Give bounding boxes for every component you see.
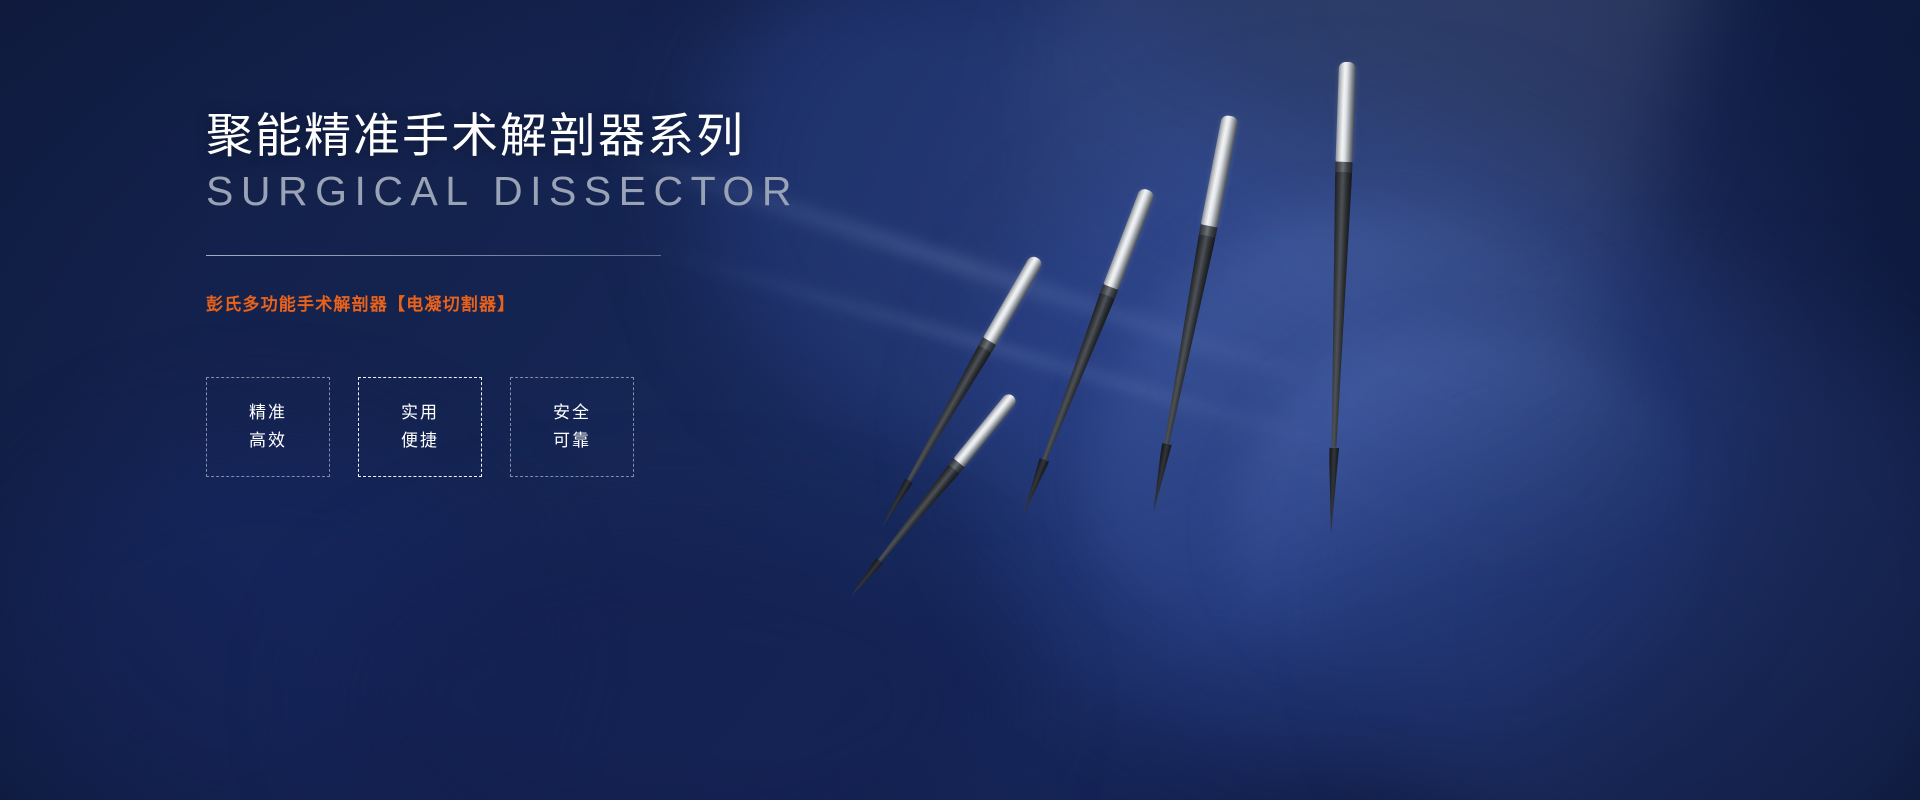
instrument-neck [979,337,996,352]
feature-box-1-line1: 精准 [249,399,287,427]
instrument-handle [1201,114,1239,227]
feature-box-1-line2: 高效 [249,427,287,455]
background-blob [330,520,1010,800]
background-hand-silhouette [1090,210,1650,680]
instrument-tip [1149,443,1172,512]
page-subtitle-english: SURGICAL DISSECTOR [206,169,906,214]
instrument-tip [1019,458,1049,516]
instrument-handle [983,254,1044,345]
instrument-handle [953,392,1018,468]
instrument-neck [1100,284,1118,298]
instrument-4 [1194,114,1239,264]
instrument-shaft [874,465,959,566]
feature-box-3-line2: 可靠 [553,427,591,455]
instrument-shaft [903,345,992,484]
feature-box-2: 实用 便捷 [358,377,482,477]
instrument-neck [948,458,964,473]
instrument-shaft [1326,172,1353,448]
feature-box-3-line1: 安全 [553,399,591,427]
instrument-3 [1087,187,1156,333]
feature-box-3: 安全 可靠 [510,377,634,477]
instrument-tip [1326,448,1339,532]
banner-content: 聚能精准手术解剖器系列 SURGICAL DISSECTOR 彭氏多功能手术解剖… [206,108,906,477]
product-hero-banner: 聚能精准手术解剖器系列 SURGICAL DISSECTOR 彭氏多功能手术解剖… [0,0,1920,800]
instrument-tip [879,478,913,528]
feature-box-2-line2: 便捷 [401,427,439,455]
instrument-handle [1103,187,1155,290]
light-beam [917,0,1722,651]
instrument-neck [1199,224,1218,237]
background-blob [980,120,1740,760]
divider [206,255,661,256]
instrument-shaft [1158,234,1215,445]
product-name-label: 彭氏多功能手术解剖器【电凝切割器】 [206,290,906,315]
instrument-neck [1335,162,1352,173]
instrument-handle [1336,62,1356,163]
instrument-2 [956,254,1044,391]
instrument-5 [1334,62,1356,213]
feature-box-group: 精准 高效 实用 便捷 安全 可靠 [206,377,906,477]
background-blob [0,430,520,800]
instrument-1 [913,392,1018,517]
background-blob [1380,300,1920,800]
feature-box-1: 精准 高效 [206,377,330,477]
instrument-tip [848,558,883,598]
feature-box-2-line1: 实用 [401,399,439,427]
instrument-shaft [1037,293,1115,463]
page-title: 聚能精准手术解剖器系列 [206,108,906,163]
background-hand-silhouette [1230,330,1700,710]
